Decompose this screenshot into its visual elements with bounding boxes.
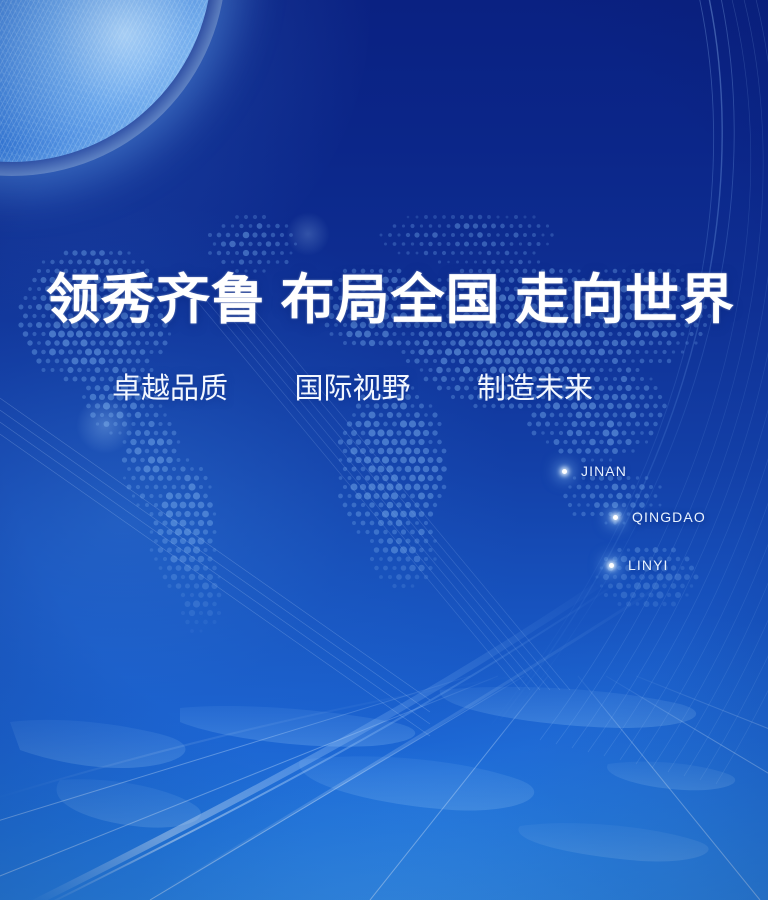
location-dot-icon [562,469,567,474]
hero-banner: 领秀齐鲁 布局全国 走向世界 卓越品质 国际视野 制造未来 JINAN QING… [0,0,768,900]
city-label-linyi: LINYI [628,557,669,573]
city-label-jinan: JINAN [581,463,627,479]
city-label-qingdao: QINGDAO [632,509,706,525]
subtitle-part-1: 卓越品质 [112,373,228,405]
city-marker-qingdao[interactable]: QINGDAO [613,509,706,525]
location-dot-icon [613,515,618,520]
city-marker-linyi[interactable]: LINYI [609,557,669,573]
location-dot-icon [609,563,614,568]
city-marker-jinan[interactable]: JINAN [562,463,627,479]
subtitle-text: 卓越品质 国际视野 制造未来 [112,371,593,407]
headline-text: 领秀齐鲁 布局全国 走向世界 [46,270,735,330]
subtitle-part-2: 国际视野 [295,373,411,405]
subtitle-part-3: 制造未来 [477,373,593,405]
